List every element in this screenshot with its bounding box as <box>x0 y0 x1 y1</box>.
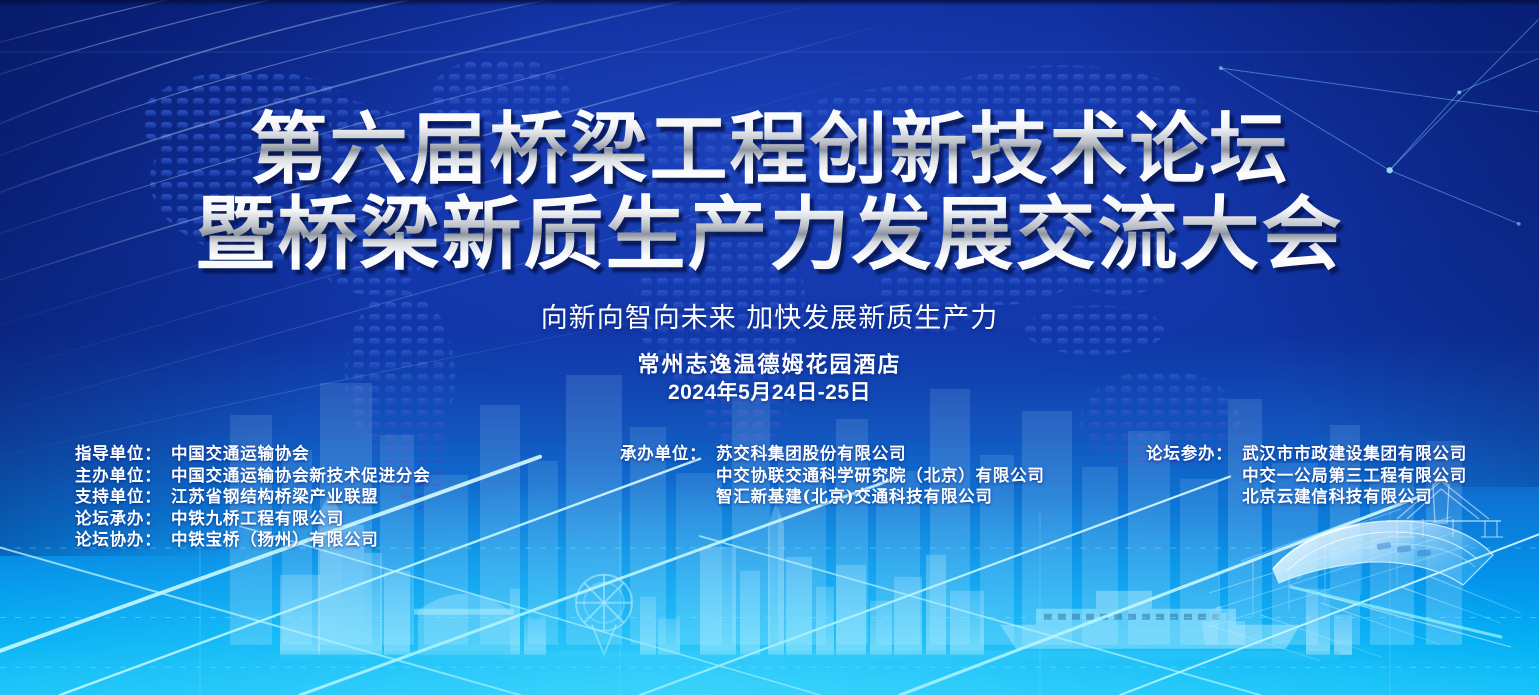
credit-row: 支持单位： 江苏省钢结构桥梁产业联盟 <box>75 486 431 508</box>
credit-value: 中铁宝桥（扬州）有限公司 <box>171 529 379 551</box>
credit-row: 承办单位： 智汇新基建(北京)交通科技有限公司 <box>620 486 1045 508</box>
credit-row: 论坛协办： 中铁宝桥（扬州）有限公司 <box>75 529 431 551</box>
credit-row: 主办单位： 中国交通运输协会新技术促进分会 <box>75 465 431 487</box>
banner-subtitle: 向新向智向未来 加快发展新质生产力 <box>0 296 1539 335</box>
credits-column-left: 指导单位： 中国交通运输协会 主办单位： 中国交通运输协会新技术促进分会 支持单… <box>75 443 431 551</box>
credit-value: 武汉市市政建设集团有限公司 <box>1242 443 1467 465</box>
credit-row: 论坛参办： 中交一公局第三工程有限公司 <box>1146 465 1467 487</box>
event-date: 2024年5月24日-25日 <box>0 379 1539 406</box>
credits-column-middle: 承办单位： 苏交科集团股份有限公司 承办单位： 中交协联交通科学研究院（北京）有… <box>620 443 1045 508</box>
credit-label: 论坛协办： <box>75 529 171 551</box>
credit-label: 论坛承办： <box>75 508 171 530</box>
title-line-2: 暨桥梁新质生产力发展交流大会 <box>0 192 1539 276</box>
credit-value: 中国交通运输协会 <box>171 443 309 465</box>
credit-value: 江苏省钢结构桥梁产业联盟 <box>171 486 379 508</box>
credit-value: 中国交通运输协会新技术促进分会 <box>171 465 431 487</box>
credits-block: 指导单位： 中国交通运输协会 主办单位： 中国交通运输协会新技术促进分会 支持单… <box>0 443 1539 563</box>
credit-value: 智汇新基建(北京)交通科技有限公司 <box>716 486 993 508</box>
venue-date-block: 常州志逸温德姆花园酒店 2024年5月24日-25日 <box>0 352 1539 406</box>
credit-label: 指导单位： <box>75 443 171 465</box>
credit-label: 支持单位： <box>75 486 171 508</box>
credit-row: 论坛承办： 中铁九桥工程有限公司 <box>75 508 431 530</box>
banner-content: 第六届桥梁工程创新技术论坛 暨桥梁新质生产力发展交流大会 向新向智向未来 加快发… <box>0 0 1539 695</box>
credit-value: 苏交科集团股份有限公司 <box>716 443 906 465</box>
credit-value: 中交一公局第三工程有限公司 <box>1242 465 1467 487</box>
credit-label: 承办单位： <box>620 443 716 465</box>
credit-row: 论坛参办： 武汉市市政建设集团有限公司 <box>1146 443 1467 465</box>
credit-label: 主办单位： <box>75 465 171 487</box>
credits-column-right: 论坛参办： 武汉市市政建设集团有限公司 论坛参办： 中交一公局第三工程有限公司 … <box>1146 443 1467 508</box>
credit-value: 中铁九桥工程有限公司 <box>171 508 344 530</box>
title-block: 第六届桥梁工程创新技术论坛 暨桥梁新质生产力发展交流大会 <box>0 108 1539 276</box>
title-line-1: 第六届桥梁工程创新技术论坛 <box>0 108 1539 192</box>
credit-row: 承办单位： 中交协联交通科学研究院（北京）有限公司 <box>620 465 1045 487</box>
credit-row: 承办单位： 苏交科集团股份有限公司 <box>620 443 1045 465</box>
credit-row: 论坛参办： 北京云建信科技有限公司 <box>1146 486 1467 508</box>
conference-banner: 第六届桥梁工程创新技术论坛 暨桥梁新质生产力发展交流大会 向新向智向未来 加快发… <box>0 0 1539 695</box>
credit-row: 指导单位： 中国交通运输协会 <box>75 443 431 465</box>
credit-value: 中交协联交通科学研究院（北京）有限公司 <box>716 465 1045 487</box>
credit-value: 北京云建信科技有限公司 <box>1242 486 1432 508</box>
credit-label: 论坛参办： <box>1146 443 1242 465</box>
venue-name: 常州志逸温德姆花园酒店 <box>0 352 1539 379</box>
